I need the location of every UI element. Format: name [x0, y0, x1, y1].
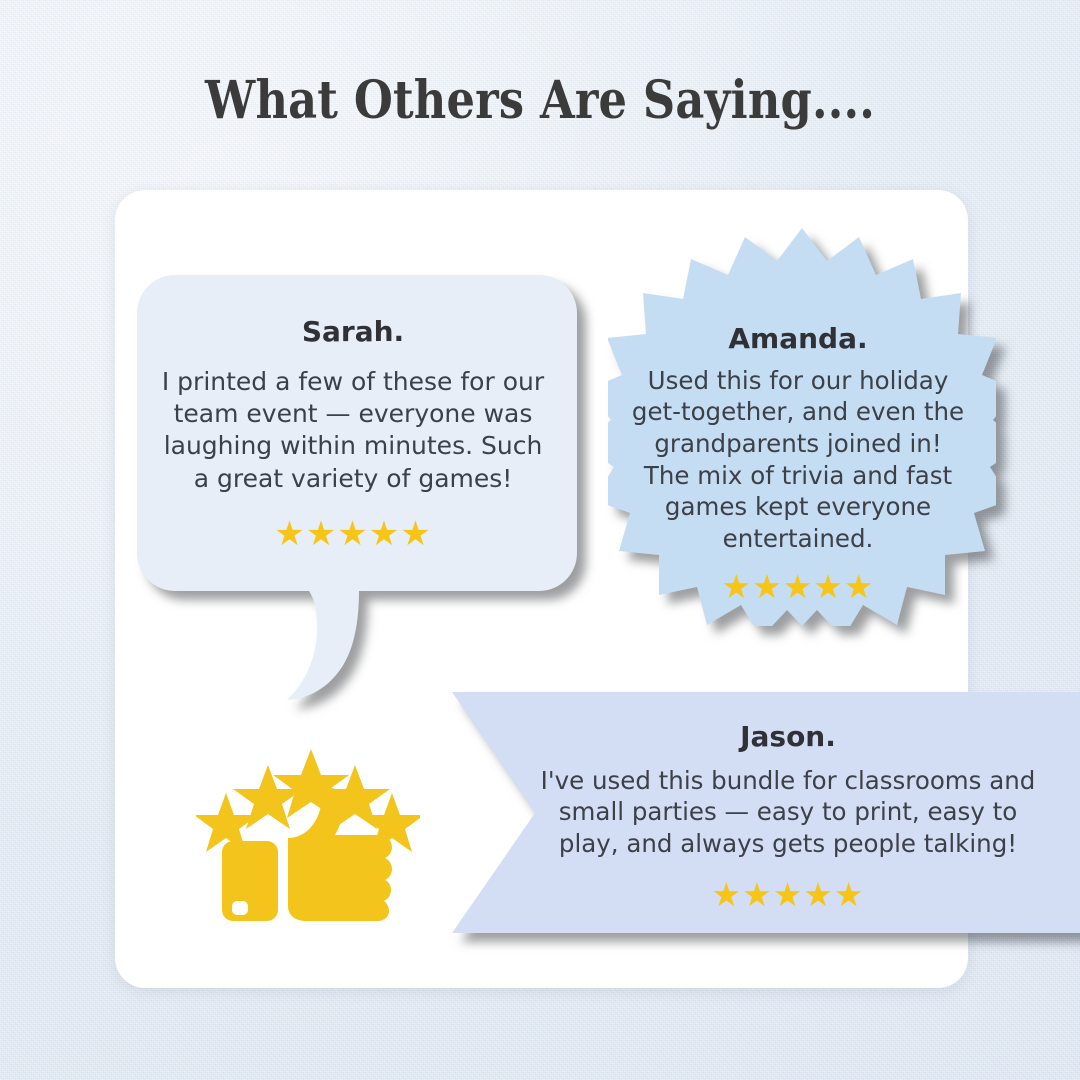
page-title: What Others Are Saying....	[76, 70, 1005, 131]
sarah-quote-text: I printed a few of these for our team ev…	[137, 366, 569, 495]
testimonial-graphic: What Others Are Saying.... Sarah. I prin…	[0, 0, 1080, 1080]
amanda-quote-text: Used this for our holiday get-together, …	[630, 365, 966, 555]
amanda-star-rating: ★★★★★	[630, 570, 966, 603]
testimonial-amanda: Amanda. Used this for our holiday get-to…	[608, 228, 996, 626]
thumbs-up-five-stars-icon	[196, 731, 420, 921]
icon-palm-dot	[232, 901, 248, 915]
jason-speaker-name: Jason.	[528, 722, 1048, 753]
jason-quote-text: I've used this bundle for classrooms and…	[528, 765, 1048, 860]
amanda-content: Amanda. Used this for our holiday get-to…	[630, 324, 966, 603]
sarah-content: Sarah. I printed a few of these for our …	[137, 317, 569, 551]
testimonial-jason: Jason. I've used this bundle for classro…	[440, 692, 1080, 942]
icon-palm-block	[222, 841, 278, 921]
jason-content: Jason. I've used this bundle for classro…	[528, 722, 1048, 911]
amanda-speaker-name: Amanda.	[630, 324, 966, 355]
testimonial-sarah: Sarah. I printed a few of these for our …	[137, 275, 577, 700]
jason-star-rating: ★★★★★	[528, 878, 1048, 911]
sarah-speaker-name: Sarah.	[137, 317, 569, 348]
icon-thumb	[288, 788, 392, 921]
sarah-star-rating: ★★★★★	[137, 517, 569, 551]
